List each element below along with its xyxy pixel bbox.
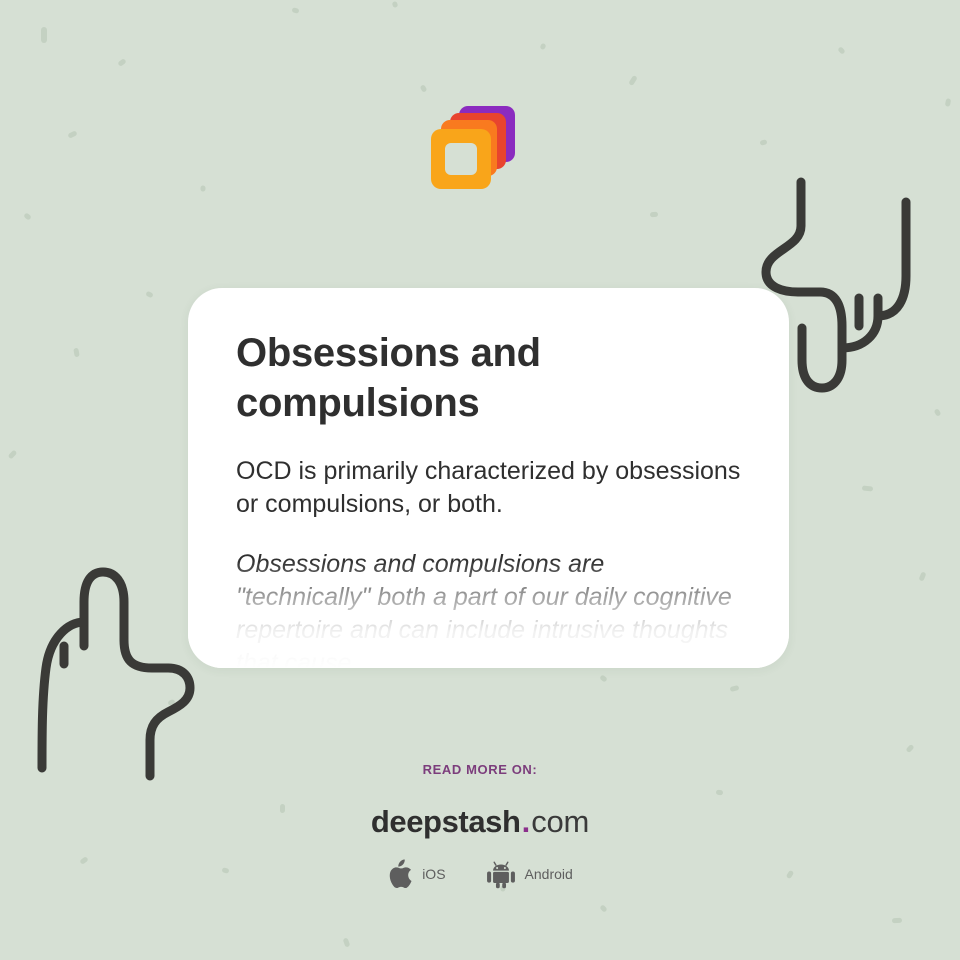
background-speck: [599, 674, 608, 682]
background-speck: [67, 130, 77, 138]
deepstash-wordmark[interactable]: deepstash.com: [0, 805, 960, 839]
footer: READ MORE ON: deepstash.com iOS: [0, 762, 960, 889]
wordmark-dot: .: [521, 804, 532, 839]
background-speck: [343, 937, 351, 947]
background-speck: [945, 98, 951, 107]
idea-card: Obsessions and compulsions OCD is primar…: [188, 288, 789, 668]
read-more-label: READ MORE ON:: [0, 762, 960, 777]
background-speck: [23, 212, 32, 220]
app-store-badges: iOS: [0, 859, 960, 889]
background-speck: [41, 27, 47, 43]
background-speck: [73, 348, 79, 358]
card-quote-paragraph: Obsessions and compulsions are "technica…: [236, 548, 741, 668]
background-speck: [420, 84, 428, 93]
background-speck: [291, 7, 299, 14]
apple-icon: [387, 859, 413, 889]
background-speck: [200, 185, 205, 191]
pointing-up-hand-icon: [28, 564, 208, 784]
wordmark-tld: com: [531, 804, 589, 839]
deepstash-idea-card-image: Obsessions and compulsions OCD is primar…: [0, 0, 960, 960]
android-store-label: Android: [525, 866, 573, 882]
ios-store-badge[interactable]: iOS: [387, 859, 445, 889]
background-speck: [599, 904, 607, 913]
background-speck: [934, 408, 942, 417]
android-store-badge[interactable]: Android: [486, 860, 573, 889]
background-speck: [905, 744, 914, 753]
background-speck: [145, 291, 154, 299]
card-title: Obsessions and compulsions: [236, 328, 741, 428]
background-speck: [117, 58, 126, 67]
background-speck: [40, 699, 46, 707]
background-speck: [167, 699, 175, 706]
wordmark-brand-name: deepstash: [371, 804, 521, 839]
android-icon: [486, 860, 516, 889]
logo-amber-frame: [431, 129, 491, 189]
background-speck: [892, 918, 902, 924]
background-speck: [628, 75, 638, 86]
deepstash-cube-logo: [429, 104, 517, 198]
background-speck: [837, 46, 845, 55]
background-speck: [862, 485, 873, 491]
ios-store-label: iOS: [422, 866, 445, 882]
card-body-paragraph: OCD is primarily characterized by obsess…: [236, 455, 741, 521]
idea-card-content: Obsessions and compulsions OCD is primar…: [188, 288, 789, 668]
background-speck: [650, 212, 658, 218]
background-speck: [392, 1, 399, 8]
background-speck: [918, 571, 926, 581]
background-speck: [540, 43, 547, 50]
background-speck: [730, 685, 740, 692]
background-speck: [8, 450, 18, 460]
background-speck: [759, 139, 767, 146]
